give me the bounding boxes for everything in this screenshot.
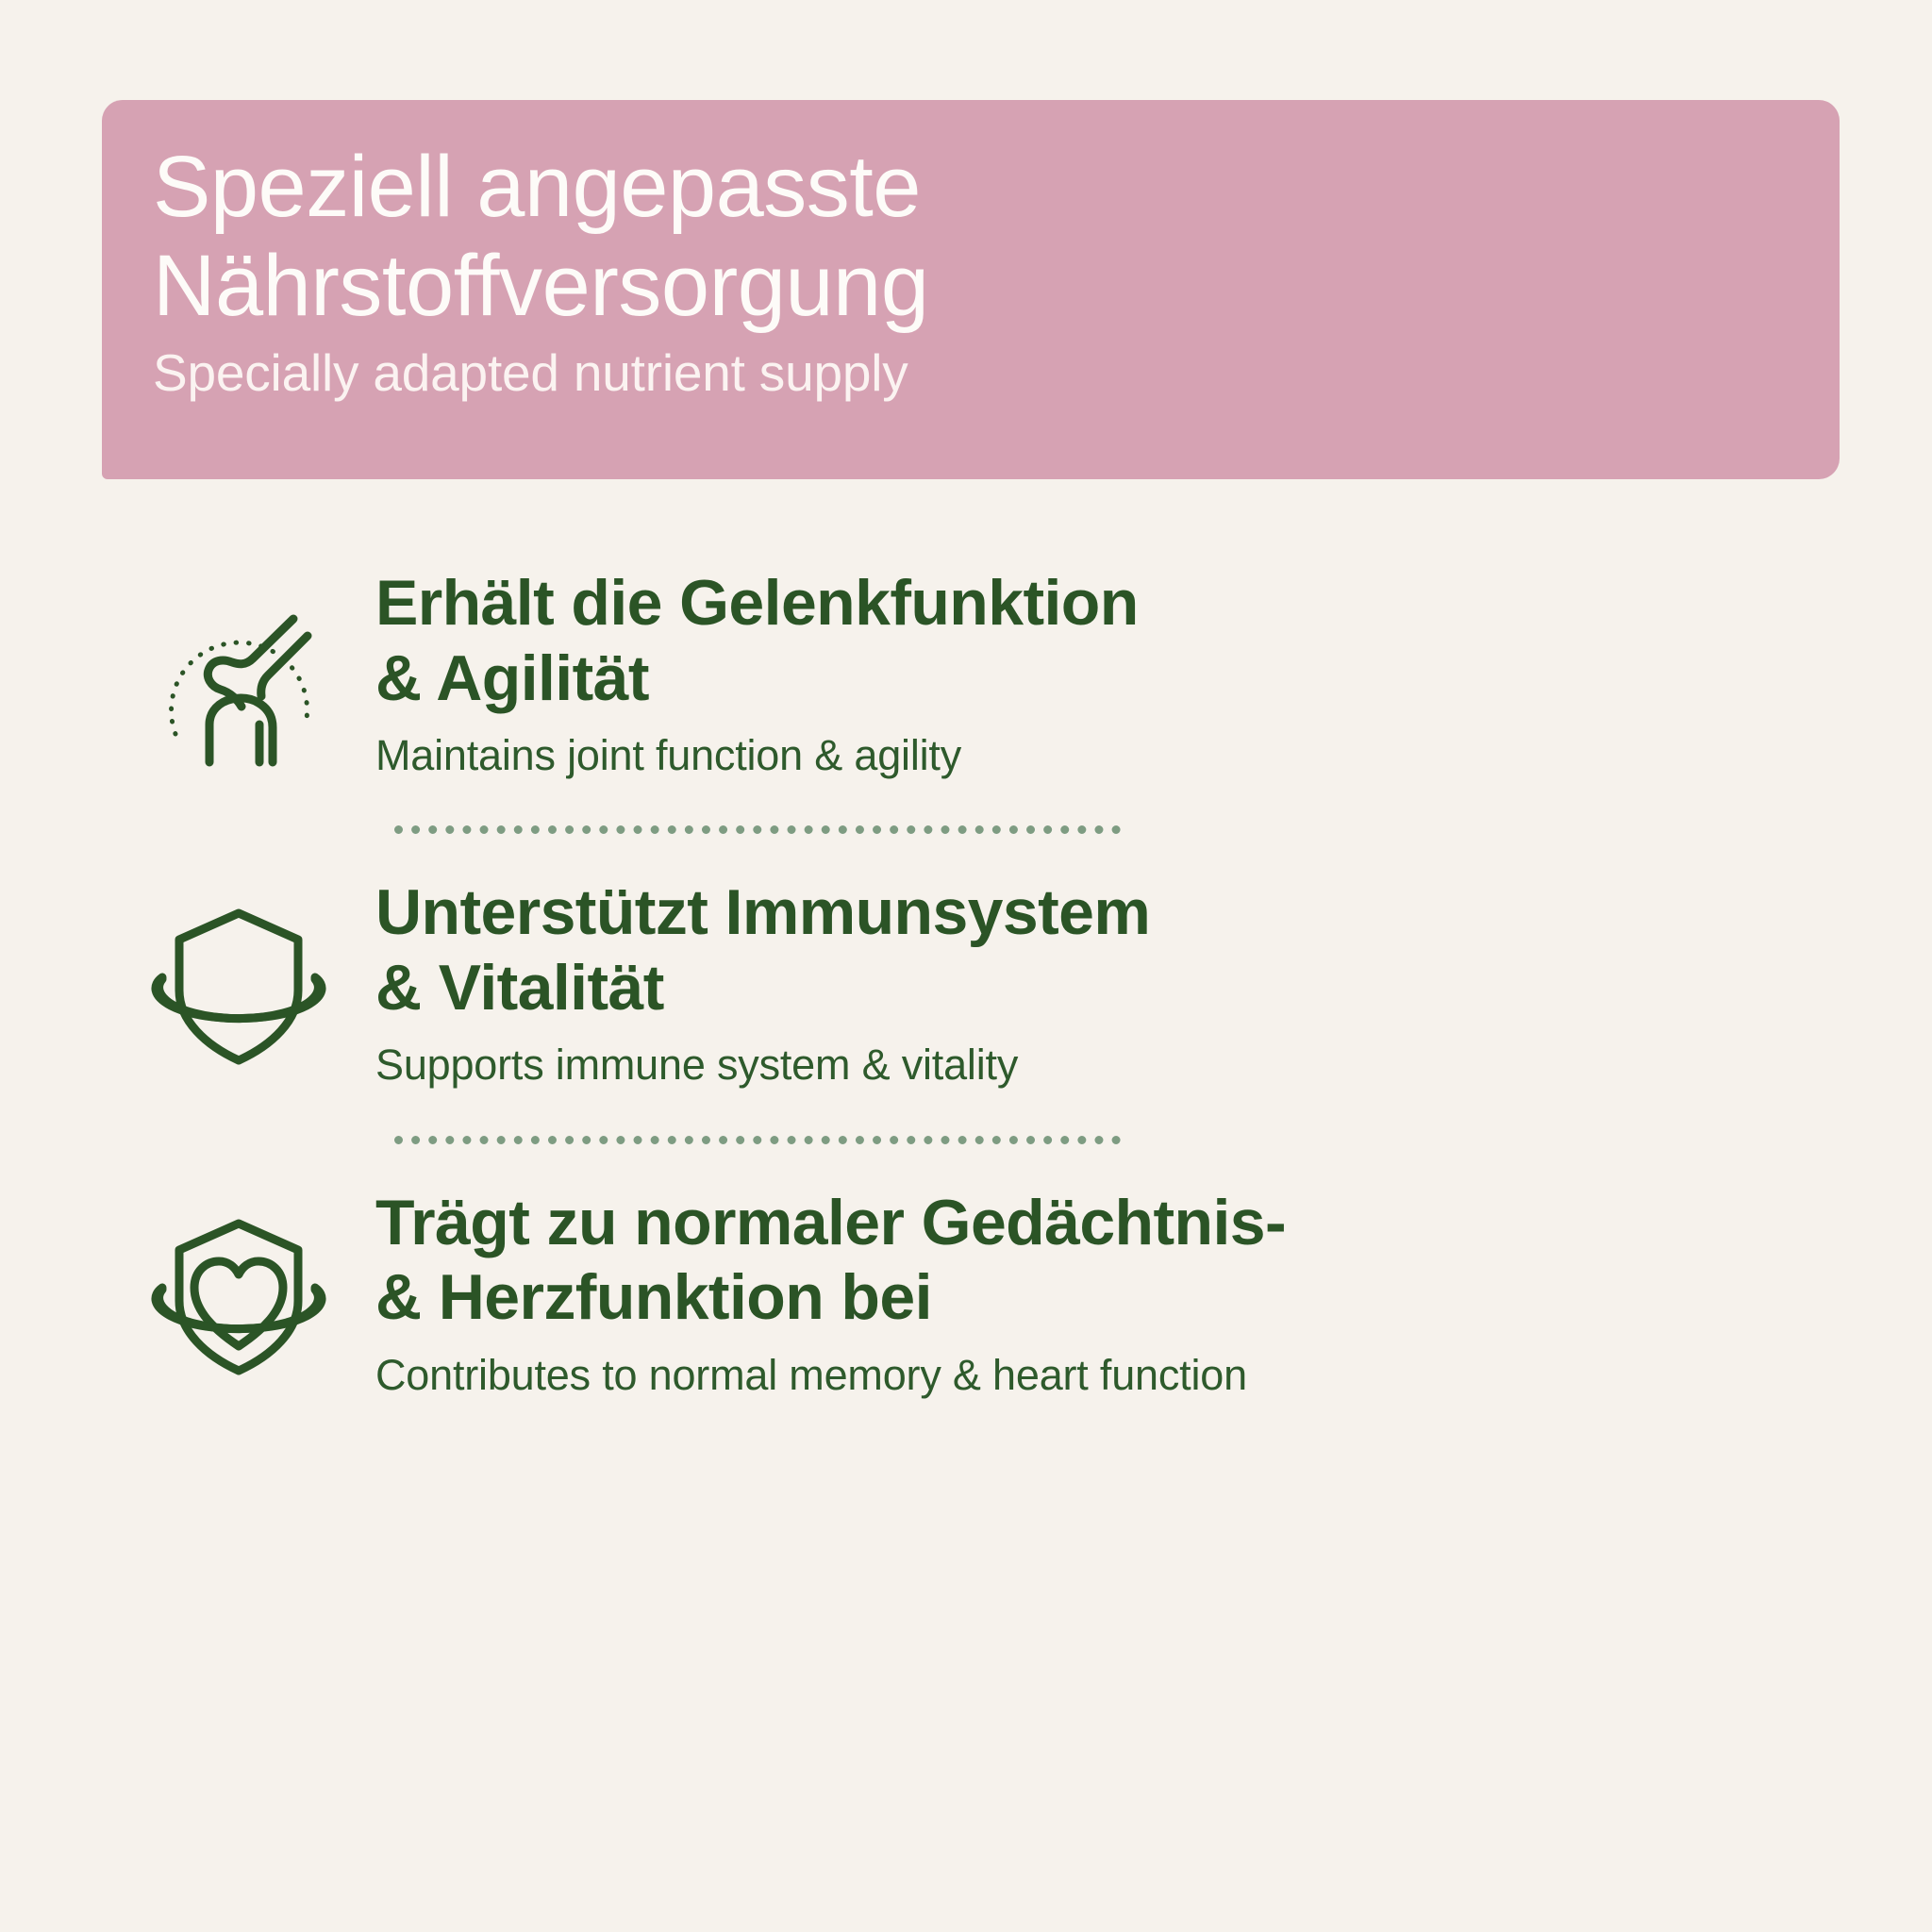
benefit-item-heart: Trägt zu normaler Gedächtnis- & Herzfunk… bbox=[102, 1186, 1838, 1402]
knee-joint-icon bbox=[102, 566, 375, 781]
benefit-subtitle: Maintains joint function & agility bbox=[375, 729, 1838, 782]
benefit-item-immune: Unterstützt Immunsystem & Vitalität Supp… bbox=[102, 875, 1838, 1091]
header-banner: Speziell angepasste Nährstoffversorgung … bbox=[102, 100, 1840, 479]
shield-orbit-icon bbox=[102, 875, 375, 1081]
benefit-item-joint: Erhält die Gelenkfunktion & Agilität Mai… bbox=[102, 566, 1838, 782]
shield-heart-orbit-icon bbox=[102, 1186, 375, 1391]
benefit-subtitle: Supports immune system & vitality bbox=[375, 1039, 1838, 1091]
divider-1 bbox=[394, 825, 1121, 834]
benefit-title: Trägt zu normaler Gedächtnis- & Herzfunk… bbox=[375, 1186, 1838, 1336]
divider-2 bbox=[394, 1136, 1121, 1144]
banner-title: Speziell angepasste Nährstoffversorgung bbox=[153, 138, 1789, 336]
benefit-title: Erhält die Gelenkfunktion & Agilität bbox=[375, 566, 1838, 716]
benefit-title: Unterstützt Immunsystem & Vitalität bbox=[375, 875, 1838, 1025]
banner-subtitle: Specially adapted nutrient supply bbox=[153, 341, 1789, 404]
benefit-subtitle: Contributes to normal memory & heart fun… bbox=[375, 1349, 1838, 1402]
benefit-list: Erhält die Gelenkfunktion & Agilität Mai… bbox=[102, 566, 1838, 1402]
